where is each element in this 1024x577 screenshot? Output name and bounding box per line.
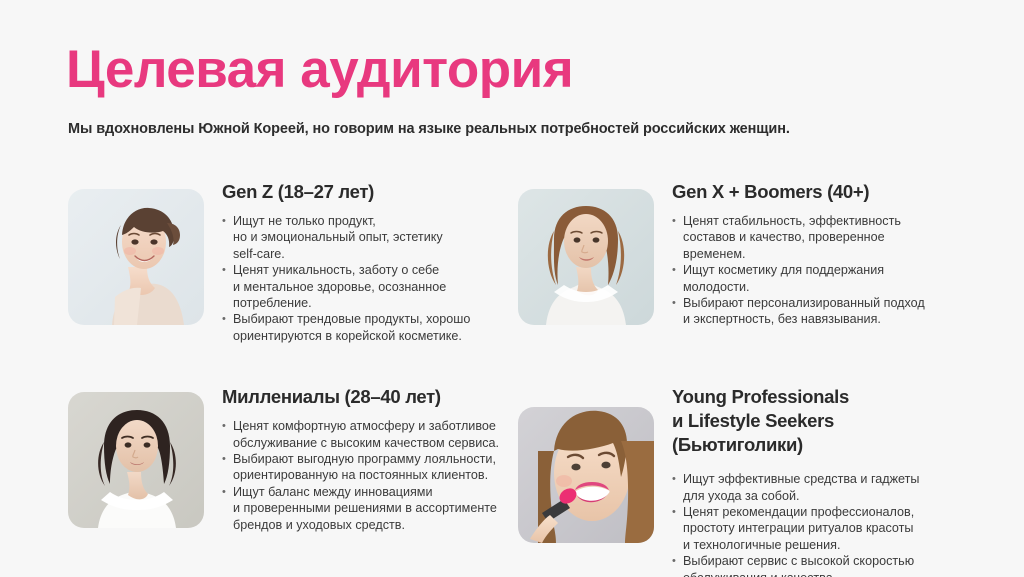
card-text-millennials: Миллениалы (28–40 лет) Ценят комфортную … — [222, 383, 499, 533]
card-bullets-gen-z: Ищут не только продукт, но и эмоциональн… — [222, 213, 470, 344]
portrait-gen-z-image — [68, 189, 204, 325]
slide-target-audience: Целевая аудитория Мы вдохновлены Южной К… — [0, 0, 1024, 577]
card-bullets-millennials: Ценят комфортную атмосферу и заботливое … — [222, 418, 499, 533]
list-item: Ищут баланс между инновациями и проверен… — [222, 484, 499, 533]
portrait-young-professionals-image — [518, 407, 654, 543]
audience-card-gen-z: Gen Z (18–27 лет) Ищут не только продукт… — [68, 180, 518, 344]
card-heading-millennials: Миллениалы (28–40 лет) — [222, 385, 499, 409]
list-item: Ценят стабильность, эффективность состав… — [672, 213, 925, 262]
list-item: Ценят рекомендации профессионалов, прост… — [672, 504, 968, 553]
page-title: Целевая аудитория — [66, 40, 573, 100]
audience-card-millennials: Миллениалы (28–40 лет) Ценят комфортную … — [68, 383, 518, 577]
card-heading-gen-z: Gen Z (18–27 лет) — [222, 180, 470, 204]
list-item: Ищут не только продукт, но и эмоциональн… — [222, 213, 470, 262]
card-bullets-gen-x-boomers: Ценят стабильность, эффективность состав… — [672, 213, 925, 328]
list-item: Ищут эффективные средства и гаджеты для … — [672, 471, 968, 504]
portrait-gen-x-boomers-image — [518, 189, 654, 325]
audience-card-gen-x-boomers: Gen X + Boomers (40+) Ценят стабильность… — [518, 180, 968, 344]
card-text-young-professionals: Young Professionals и Lifestyle Seekers … — [672, 383, 968, 577]
card-text-gen-z: Gen Z (18–27 лет) Ищут не только продукт… — [222, 180, 470, 344]
list-item: Ценят комфортную атмосферу и заботливое … — [222, 418, 499, 451]
list-item: Ищут косметику для поддержания молодости… — [672, 262, 925, 295]
list-item: Выбирают сервис с высокой скоростью обсл… — [672, 553, 968, 577]
page-subtitle: Мы вдохновлены Южной Кореей, но говорим … — [68, 119, 790, 139]
card-heading-gen-x-boomers: Gen X + Boomers (40+) — [672, 180, 925, 204]
card-bullets-young-professionals: Ищут эффективные средства и гаджеты для … — [672, 471, 968, 577]
card-heading-young-professionals: Young Professionals и Lifestyle Seekers … — [672, 385, 968, 457]
card-text-gen-x-boomers: Gen X + Boomers (40+) Ценят стабильность… — [672, 180, 925, 328]
list-item: Выбирают трендовые продукты, хорошо орие… — [222, 311, 470, 344]
list-item: Выбирают персонализированный подход и эк… — [672, 295, 925, 328]
list-item: Ценят уникальность, заботу о себе и мент… — [222, 262, 470, 311]
audience-card-young-professionals: Young Professionals и Lifestyle Seekers … — [518, 383, 968, 577]
portrait-millennials-image — [68, 392, 204, 528]
audience-card-grid: Gen Z (18–27 лет) Ищут не только продукт… — [0, 180, 1024, 577]
list-item: Выбирают выгодную программу лояльности, … — [222, 451, 499, 484]
